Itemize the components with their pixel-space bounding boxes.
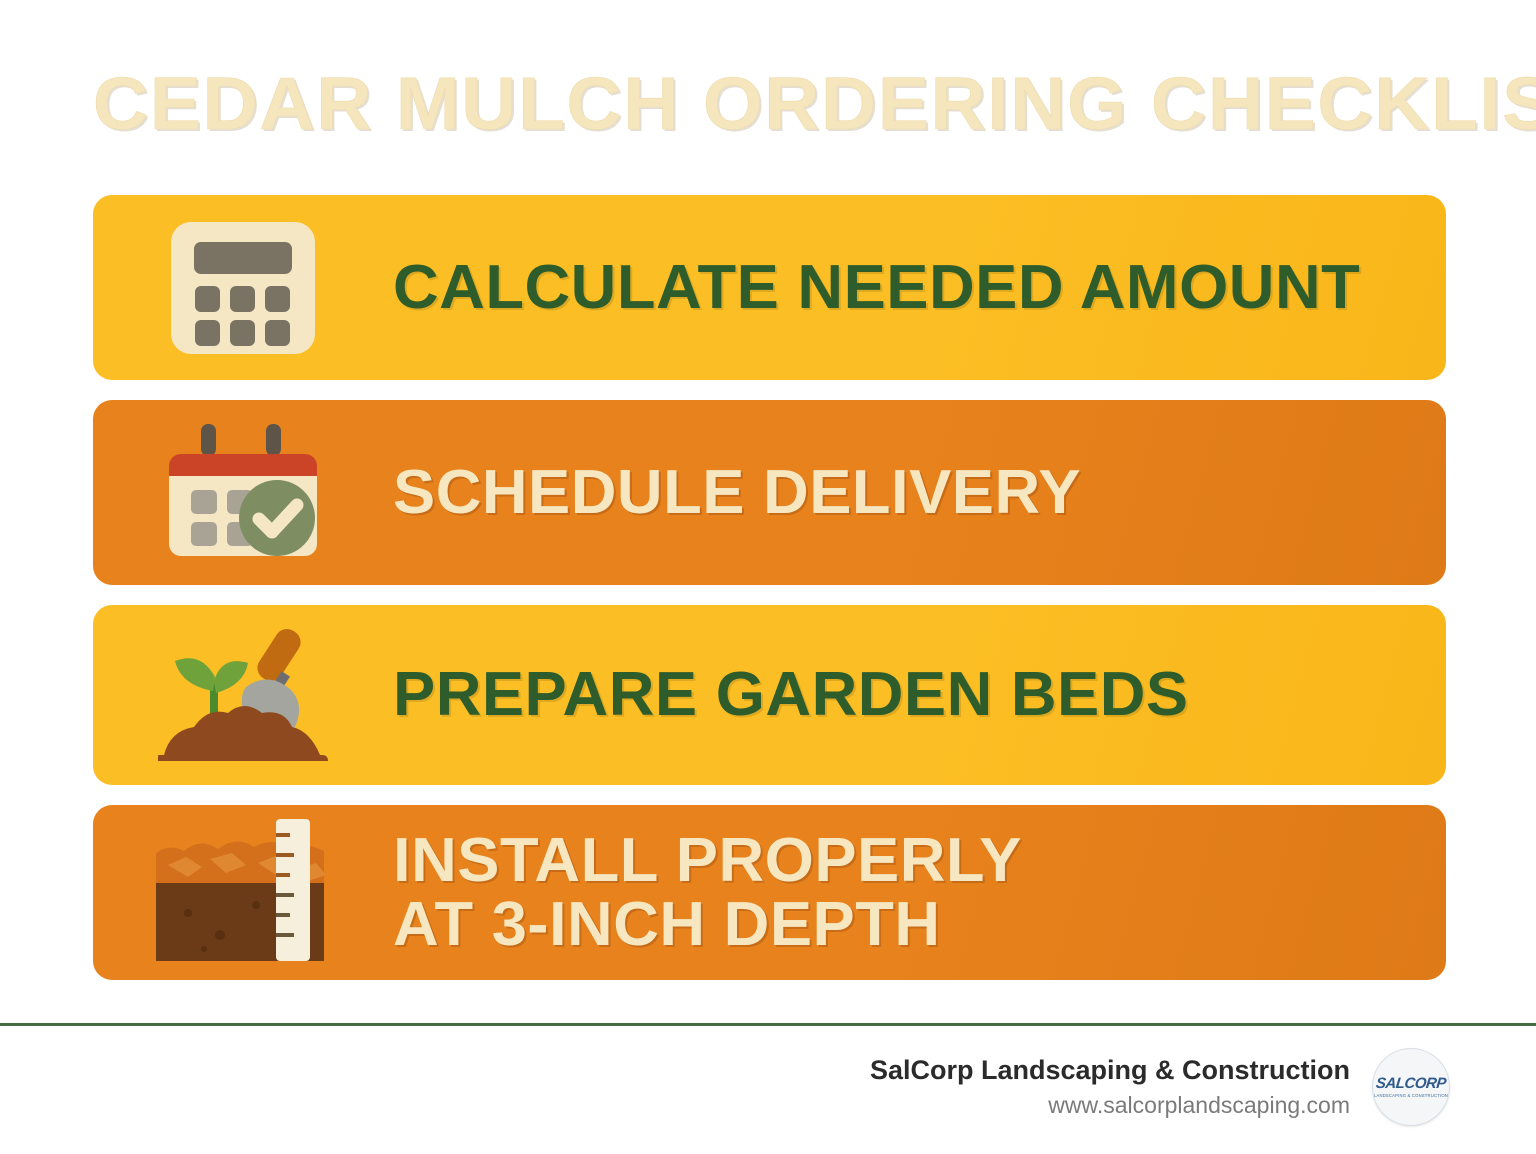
- checklist-item-label: PREPARE GARDEN BEDS: [393, 663, 1189, 727]
- logo-wordmark: SALCORP: [1375, 1076, 1446, 1091]
- calculator-icon-slot: [93, 195, 393, 380]
- logo-subtitle: LANDSCAPING & CONSTRUCTION: [1374, 1092, 1448, 1099]
- salcorp-logo-icon[interactable]: SALCORP LANDSCAPING & CONSTRUCTION: [1372, 1048, 1450, 1126]
- checklist-item-install[interactable]: INSTALL PROPERLY AT 3-INCH DEPTH: [93, 805, 1446, 980]
- seedling-trowel-icon-slot: [93, 605, 393, 785]
- mulch-depth-ruler-icon-slot: [93, 805, 393, 980]
- checklist: CALCULATE NEEDED AMOUNT SCHEDULE DELIVER…: [93, 195, 1446, 980]
- footer: SalCorp Landscaping & Construction www.s…: [870, 1048, 1450, 1126]
- page-title: CEDAR MULCH ORDERING CHECKLIST: [93, 62, 1495, 146]
- mulch-depth-ruler-icon: [148, 817, 338, 969]
- footer-divider: [0, 1023, 1536, 1026]
- calculator-icon: [167, 218, 319, 358]
- checklist-item-prepare[interactable]: PREPARE GARDEN BEDS: [93, 605, 1446, 785]
- footer-company-name: SalCorp Landscaping & Construction: [870, 1052, 1350, 1088]
- footer-text-block: SalCorp Landscaping & Construction www.s…: [870, 1052, 1350, 1122]
- checklist-item-calculate[interactable]: CALCULATE NEEDED AMOUNT: [93, 195, 1446, 380]
- calendar-check-icon-slot: [93, 400, 393, 585]
- footer-website-url[interactable]: www.salcorplandscaping.com: [870, 1088, 1350, 1122]
- checklist-item-schedule[interactable]: SCHEDULE DELIVERY: [93, 400, 1446, 585]
- checklist-item-label: INSTALL PROPERLY AT 3-INCH DEPTH: [393, 829, 1022, 957]
- checklist-item-label: SCHEDULE DELIVERY: [393, 461, 1081, 525]
- calendar-check-icon: [163, 418, 323, 568]
- seedling-trowel-icon: [158, 625, 328, 765]
- checklist-item-label: CALCULATE NEEDED AMOUNT: [393, 256, 1360, 320]
